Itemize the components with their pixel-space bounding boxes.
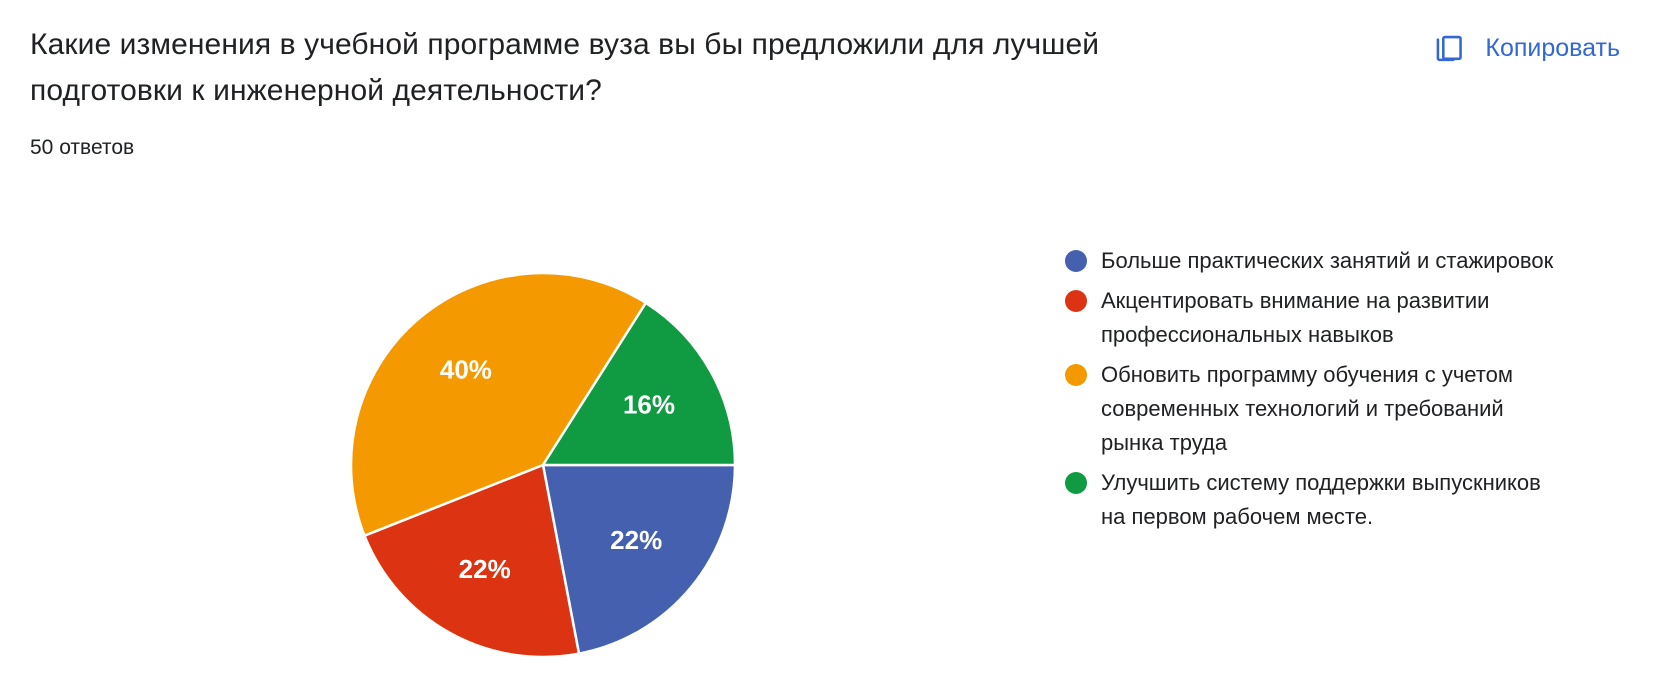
response-count: 50 ответов [30, 134, 1280, 162]
legend-item-label: Обновить программу обучения с учетом сов… [1101, 358, 1571, 460]
pie-label-1: 22% [459, 554, 511, 584]
pie-label-3: 16% [623, 390, 675, 420]
pie-slices [351, 273, 735, 657]
legend-item-label: Акцентировать внимание на развитии профе… [1101, 284, 1571, 352]
copy-icon [1431, 30, 1467, 66]
chart-legend: Больше практических занятий и стажировок… [1065, 244, 1585, 540]
copy-button-label: Копировать [1485, 33, 1620, 63]
legend-item-label: Больше практических занятий и стажировок [1101, 244, 1553, 278]
legend-item[interactable]: Обновить программу обучения с учетом сов… [1065, 358, 1585, 460]
legend-bullet-icon [1065, 290, 1087, 312]
pie-chart-area: 22% 22% 40% 16% Больше практических заня… [0, 200, 1654, 696]
page-title: Какие изменения в учебной программе вуза… [30, 22, 1190, 114]
legend-item-label: Улучшить систему поддержки выпускников н… [1101, 466, 1571, 534]
legend-bullet-icon [1065, 250, 1087, 272]
pie-label-2: 40% [440, 355, 492, 385]
legend-item[interactable]: Улучшить систему поддержки выпускников н… [1065, 466, 1585, 534]
legend-bullet-icon [1065, 472, 1087, 494]
legend-bullet-icon [1065, 364, 1087, 386]
response-summary-card: Какие изменения в учебной программе вуза… [0, 0, 1654, 696]
copy-button[interactable]: Копировать [1425, 26, 1626, 70]
pie-label-0: 22% [610, 525, 662, 555]
question-header: Какие изменения в учебной программе вуза… [30, 22, 1280, 162]
legend-item[interactable]: Больше практических занятий и стажировок [1065, 244, 1585, 278]
pie-chart: 22% 22% 40% 16% [351, 265, 737, 665]
pie-chart-svg: 22% 22% 40% 16% [351, 265, 737, 665]
legend-item[interactable]: Акцентировать внимание на развитии профе… [1065, 284, 1585, 352]
